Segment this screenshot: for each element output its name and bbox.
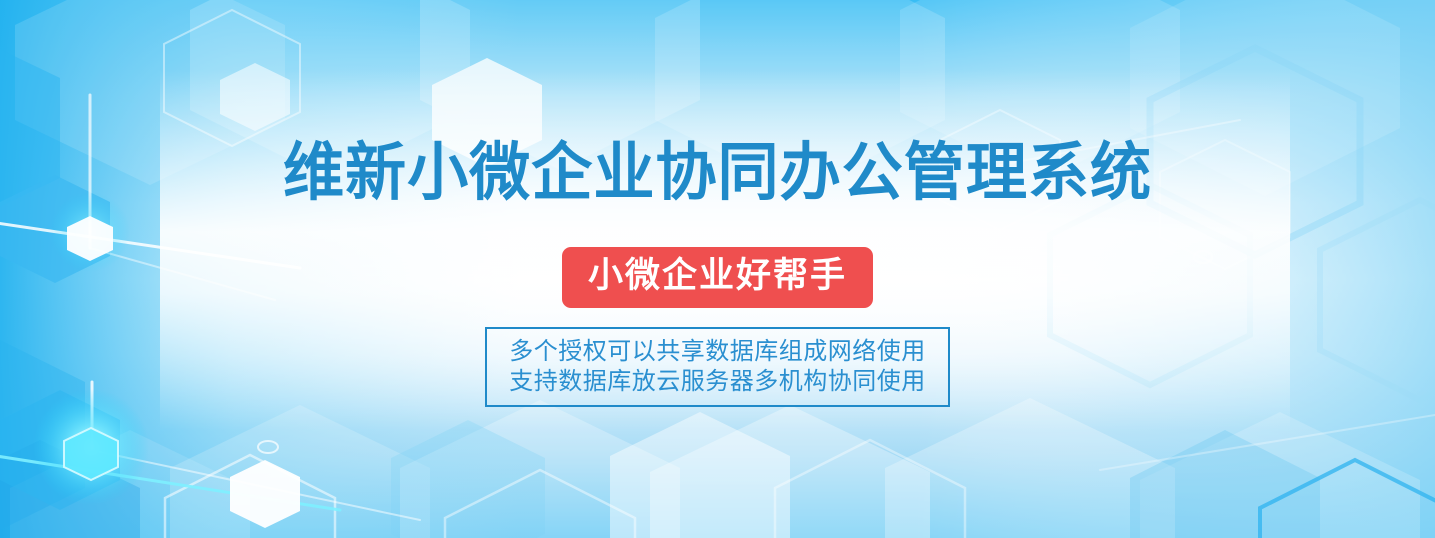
banner-content: 维新小微企业协同办公管理系统 小微企业好帮手 多个授权可以共享数据库组成网络使用… xyxy=(0,0,1435,538)
feature-line-1: 多个授权可以共享数据库组成网络使用 xyxy=(509,336,926,366)
feature-line-2: 支持数据库放云服务器多机构协同使用 xyxy=(509,366,926,396)
feature-box: 多个授权可以共享数据库组成网络使用 支持数据库放云服务器多机构协同使用 xyxy=(485,327,950,407)
hero-banner: 维新小微企业协同办公管理系统 小微企业好帮手 多个授权可以共享数据库组成网络使用… xyxy=(0,0,1435,538)
tagline-badge-wrapper: 小微企业好帮手 xyxy=(0,247,1435,308)
tagline-badge: 小微企业好帮手 xyxy=(562,247,873,308)
feature-box-wrapper: 多个授权可以共享数据库组成网络使用 支持数据库放云服务器多机构协同使用 xyxy=(0,327,1435,407)
page-title: 维新小微企业协同办公管理系统 xyxy=(22,141,1414,204)
